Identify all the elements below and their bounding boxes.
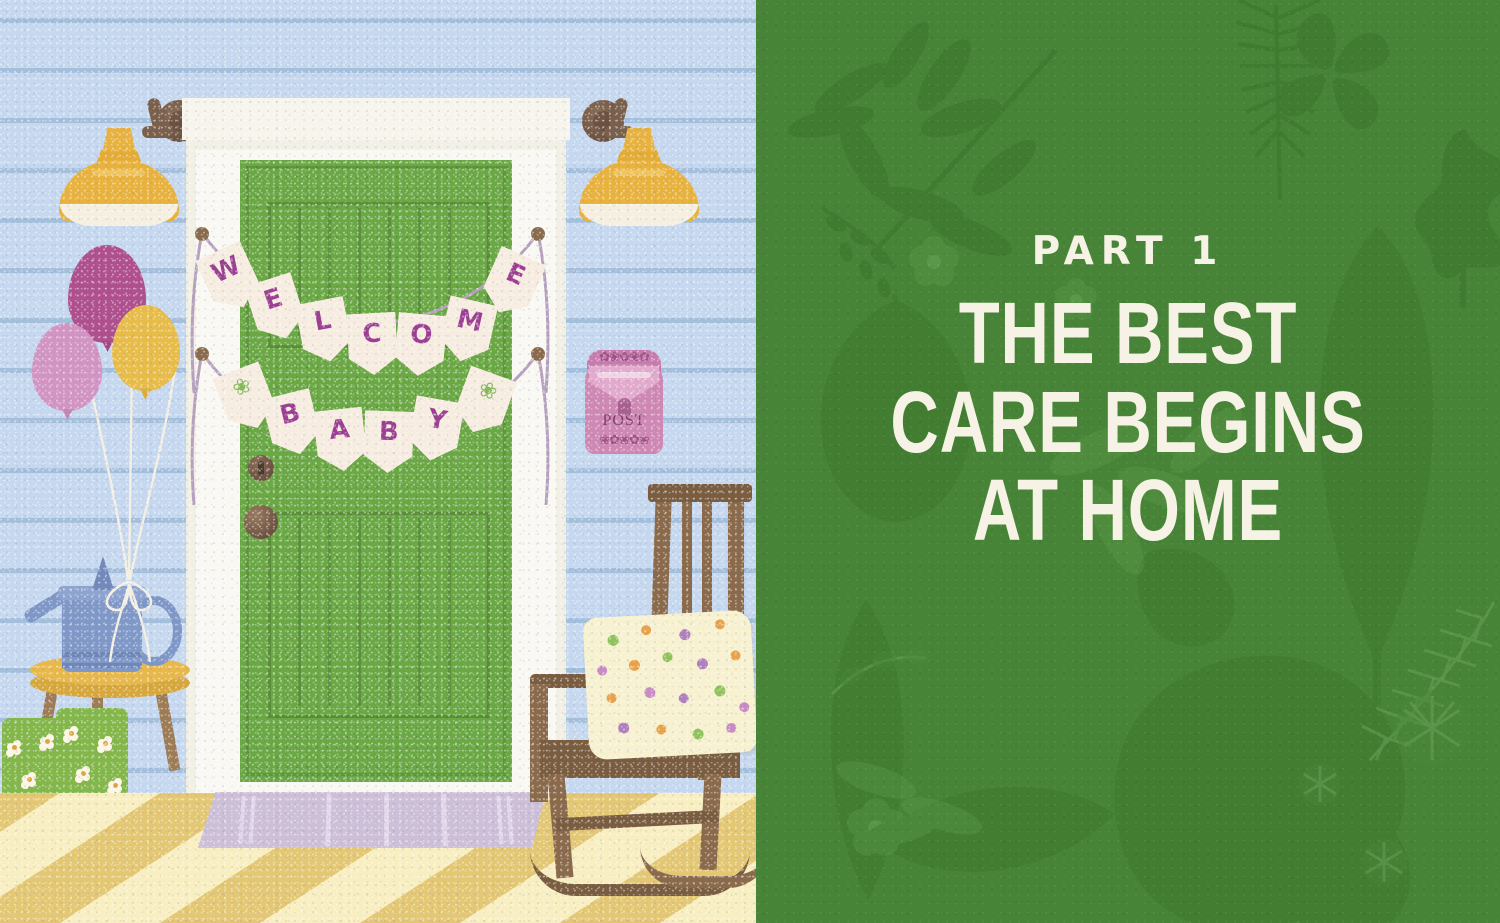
door-header-trim (182, 98, 570, 140)
pillow-dot (662, 652, 673, 663)
sconce-shade-stripe (613, 170, 665, 176)
pillow-dot (715, 619, 726, 630)
wall-sconce-right (564, 98, 714, 198)
mat-stripe (325, 794, 332, 846)
chapter-opener-spread: W E L C O M E ❀ B A B Y ❀ (0, 0, 1500, 923)
pillow-dot (644, 687, 656, 699)
mat-stripe (441, 794, 448, 846)
banner-letter: Y (425, 398, 450, 437)
sconce-bulb-glow (60, 204, 178, 226)
door-slat (298, 518, 301, 706)
pillow-dot (629, 660, 641, 672)
mat-stripe (506, 796, 513, 844)
pillow-dot (656, 724, 667, 735)
mat-stripe (384, 794, 389, 846)
chapter-title-line-1: THE BEST (808, 293, 1448, 374)
boot-flower-icon (98, 736, 113, 751)
door-slat (448, 518, 451, 706)
mat-stripe (238, 796, 245, 844)
boot-flower-icon (7, 740, 22, 755)
banner-letter: M (454, 298, 487, 339)
chapter-title-line-3: AT HOME (808, 470, 1448, 551)
door-knob[interactable] (244, 505, 278, 539)
door-panel-lower (268, 512, 490, 718)
seed-pod-icon (1299, 763, 1341, 805)
sconce-shade-stripe (93, 170, 145, 176)
pillow-dot (679, 629, 691, 641)
chair-stretcher (556, 810, 718, 831)
watering-can-band (62, 652, 142, 657)
leaf-icon: ❀ (475, 371, 503, 406)
door-slat (388, 518, 391, 706)
banner-nail (531, 347, 545, 361)
banner-letter: B (378, 411, 399, 448)
throw-pillow (582, 610, 756, 761)
oval-leaf-icon (1137, 549, 1234, 647)
part-label: PART 1 (756, 232, 1500, 271)
banner-letter: E (258, 277, 286, 317)
pillow-dot (739, 702, 750, 713)
banner-nail (195, 227, 209, 241)
sconce-bulb-glow (580, 204, 698, 226)
pillow-dot (607, 635, 619, 647)
boot-flower-icon (76, 766, 91, 781)
banner-letter: A (327, 408, 351, 446)
seed-pod-icon (1394, 690, 1470, 766)
banner-letter: B (275, 392, 303, 432)
boot-flower-icon (108, 778, 123, 793)
seed-pod-icon (1361, 839, 1407, 885)
pillow-dot (597, 665, 608, 676)
door-lock-icon[interactable] (248, 455, 274, 481)
chair-top-rail (648, 484, 752, 502)
pillow-dot (678, 693, 689, 704)
leaf-icon: ❀ (227, 367, 255, 403)
pink-balloon (32, 323, 102, 411)
banner-letter: C (361, 313, 382, 350)
mailbox-label: POST (585, 412, 663, 430)
mailbox-ornament-top: ✿❀✿❀✿ (585, 349, 663, 365)
sconce-arm (142, 126, 172, 138)
porch-illustration: W E L C O M E ❀ B A B Y ❀ (0, 0, 756, 923)
pillow-dot (641, 625, 652, 636)
leafy-branch-icon (785, 16, 1056, 265)
banner-letter: E (501, 252, 532, 292)
watering-can-band (62, 663, 142, 668)
boot-flower-icon (64, 726, 79, 741)
banner-nail (195, 347, 209, 361)
mailbox-slot (597, 372, 651, 378)
pillow-dot (726, 723, 737, 734)
yellow-balloon (112, 305, 180, 391)
door-slat (418, 518, 421, 706)
banner-nail (531, 227, 545, 241)
banner-letter: L (310, 299, 333, 338)
doormat (198, 792, 546, 848)
pillow-dot (697, 658, 709, 670)
chapter-title-line-2: CARE BEGINS (808, 381, 1448, 462)
siding-line (0, 68, 756, 73)
chapter-title-block: PART 1 THE BEST CARE BEGINS AT HOME (756, 232, 1500, 563)
pillow-dot (730, 650, 741, 661)
rocking-chair (530, 478, 756, 898)
boot-flower-icon (22, 772, 37, 787)
pillow-dot (714, 685, 726, 697)
door-slat (328, 518, 331, 706)
door-slat (358, 518, 361, 706)
pillow-dot (692, 728, 704, 740)
mat-stripe (496, 796, 503, 844)
pillow-dot (618, 722, 630, 734)
banner-letter: O (409, 313, 434, 351)
mailbox[interactable]: ✿❀✿❀✿ POST ❀✿❀✿❀ (585, 350, 663, 454)
mailbox-ornament-bottom: ❀✿❀✿❀ (585, 432, 663, 448)
mat-stripe (248, 796, 255, 844)
pillow-dot (606, 693, 617, 704)
siding-line (0, 18, 756, 23)
chapter-title-panel: PART 1 THE BEST CARE BEGINS AT HOME (756, 0, 1500, 923)
